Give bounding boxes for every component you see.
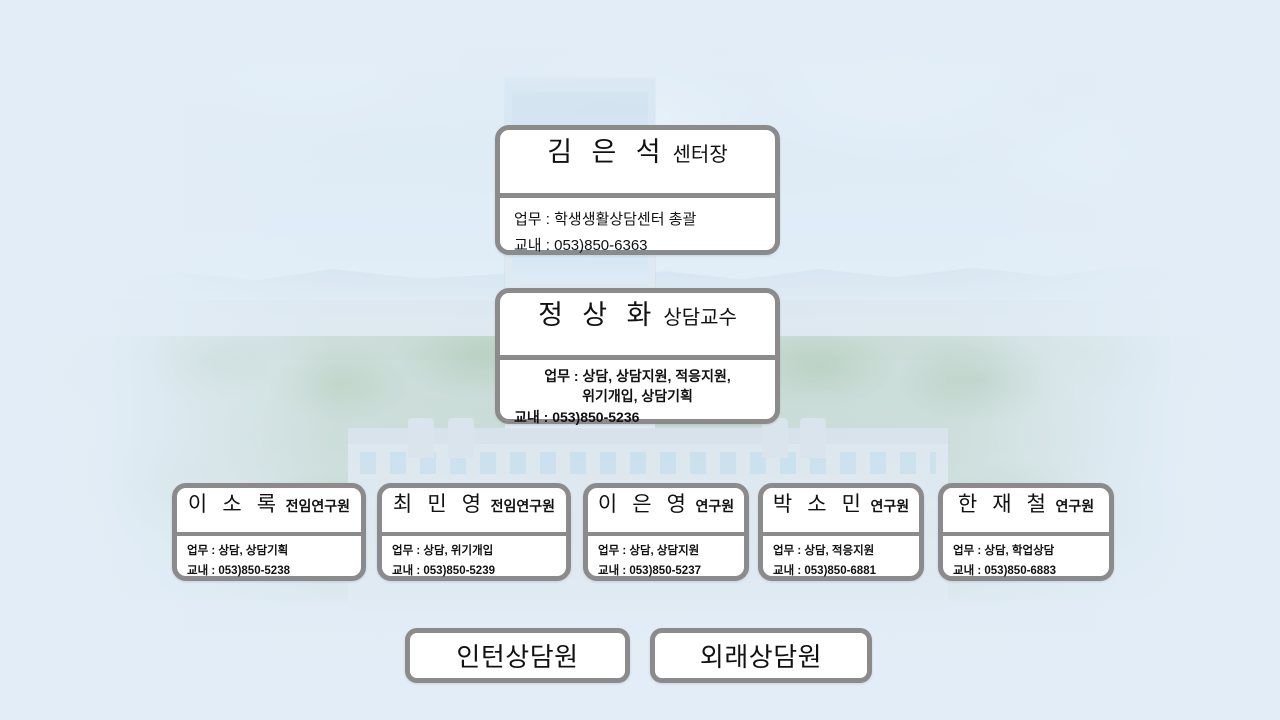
professor-phone: 교내 : 053)850-5236 xyxy=(508,407,767,427)
director-name: 김 은 석 xyxy=(547,130,666,169)
org-node-staff-1[interactable]: 이 소 록 전임연구원 업무 : 상담, 상담기획 교내 : 053)850-5… xyxy=(172,483,366,581)
director-details: 업무 : 학생생활상담센터 총괄 교내 : 053)850-6363 xyxy=(500,198,775,258)
staff-4-name: 박 소 민 xyxy=(773,488,866,518)
director-role: 센터장 xyxy=(673,138,728,167)
staff-2-header: 최 민 영 전임연구원 xyxy=(382,488,566,532)
staff-1-details: 업무 : 상담, 상담기획 교내 : 053)850-5238 xyxy=(177,536,361,581)
staff-1-phone: 교내 : 053)850-5238 xyxy=(187,561,361,581)
director-header: 김 은 석 센터장 xyxy=(500,130,775,193)
org-node-staff-2[interactable]: 최 민 영 전임연구원 업무 : 상담, 위기개입 교내 : 053)850-5… xyxy=(377,483,571,581)
external-counselor-label: 외래상담원 xyxy=(700,637,822,674)
staff-3-role: 연구원 xyxy=(696,496,735,516)
staff-5-duty: 업무 : 상담, 학업상담 xyxy=(953,541,1109,561)
staff-3-header: 이 은 영 연구원 xyxy=(588,488,744,532)
staff-5-phone: 교내 : 053)850-6883 xyxy=(953,561,1109,581)
professor-details: 업무 : 상담, 상담지원, 적응지원, 위기개입, 상담기획 교내 : 053… xyxy=(500,360,775,427)
staff-1-duty: 업무 : 상담, 상담기획 xyxy=(187,541,361,561)
staff-4-duty: 업무 : 상담, 적응지원 xyxy=(773,541,919,561)
staff-1-role: 전임연구원 xyxy=(286,496,350,516)
professor-header: 정 상 화 상담교수 xyxy=(500,293,775,355)
staff-2-duty: 업무 : 상담, 위기개입 xyxy=(392,541,566,561)
professor-duty-line-1: 업무 : 상담, 상담지원, 적응지원, xyxy=(508,366,767,386)
staff-4-phone: 교내 : 053)850-6881 xyxy=(773,561,919,581)
staff-2-details: 업무 : 상담, 위기개입 교내 : 053)850-5239 xyxy=(382,536,566,581)
staff-1-name: 이 소 록 xyxy=(188,488,281,518)
intern-counselor-label: 인턴상담원 xyxy=(456,637,578,674)
org-node-intern-counselor[interactable]: 인턴상담원 xyxy=(405,628,630,683)
staff-3-name: 이 은 영 xyxy=(598,488,691,518)
professor-duty-line-2: 위기개입, 상담기획 xyxy=(508,386,767,406)
professor-role: 상담교수 xyxy=(663,301,737,330)
org-chart: 김 은 석 센터장 업무 : 학생생활상담센터 총괄 교내 : 053)850-… xyxy=(0,0,1280,720)
director-phone: 교내 : 053)850-6363 xyxy=(514,233,775,259)
staff-3-phone: 교내 : 053)850-5237 xyxy=(598,561,744,581)
org-node-external-counselor[interactable]: 외래상담원 xyxy=(650,628,872,683)
org-node-director[interactable]: 김 은 석 센터장 업무 : 학생생활상담센터 총괄 교내 : 053)850-… xyxy=(495,125,780,255)
staff-4-role: 연구원 xyxy=(871,496,910,516)
org-node-professor[interactable]: 정 상 화 상담교수 업무 : 상담, 상담지원, 적응지원, 위기개입, 상담… xyxy=(495,288,780,424)
staff-5-details: 업무 : 상담, 학업상담 교내 : 053)850-6883 xyxy=(943,536,1109,581)
org-chart-page: 김 은 석 센터장 업무 : 학생생활상담센터 총괄 교내 : 053)850-… xyxy=(0,0,1280,720)
staff-5-role: 연구원 xyxy=(1056,496,1095,516)
staff-5-name: 한 재 철 xyxy=(958,488,1051,518)
org-node-staff-4[interactable]: 박 소 민 연구원 업무 : 상담, 적응지원 교내 : 053)850-688… xyxy=(758,483,924,581)
staff-4-header: 박 소 민 연구원 xyxy=(763,488,919,532)
professor-name: 정 상 화 xyxy=(538,293,657,332)
staff-5-header: 한 재 철 연구원 xyxy=(943,488,1109,532)
staff-3-details: 업무 : 상담, 상담지원 교내 : 053)850-5237 xyxy=(588,536,744,581)
staff-2-phone: 교내 : 053)850-5239 xyxy=(392,561,566,581)
staff-3-duty: 업무 : 상담, 상담지원 xyxy=(598,541,744,561)
staff-1-header: 이 소 록 전임연구원 xyxy=(177,488,361,532)
org-node-staff-3[interactable]: 이 은 영 연구원 업무 : 상담, 상담지원 교내 : 053)850-523… xyxy=(583,483,749,581)
org-node-staff-5[interactable]: 한 재 철 연구원 업무 : 상담, 학업상담 교내 : 053)850-688… xyxy=(938,483,1114,581)
staff-4-details: 업무 : 상담, 적응지원 교내 : 053)850-6881 xyxy=(763,536,919,581)
staff-2-name: 최 민 영 xyxy=(393,488,486,518)
staff-2-role: 전임연구원 xyxy=(491,496,555,516)
director-duty: 업무 : 학생생활상담센터 총괄 xyxy=(514,207,775,233)
